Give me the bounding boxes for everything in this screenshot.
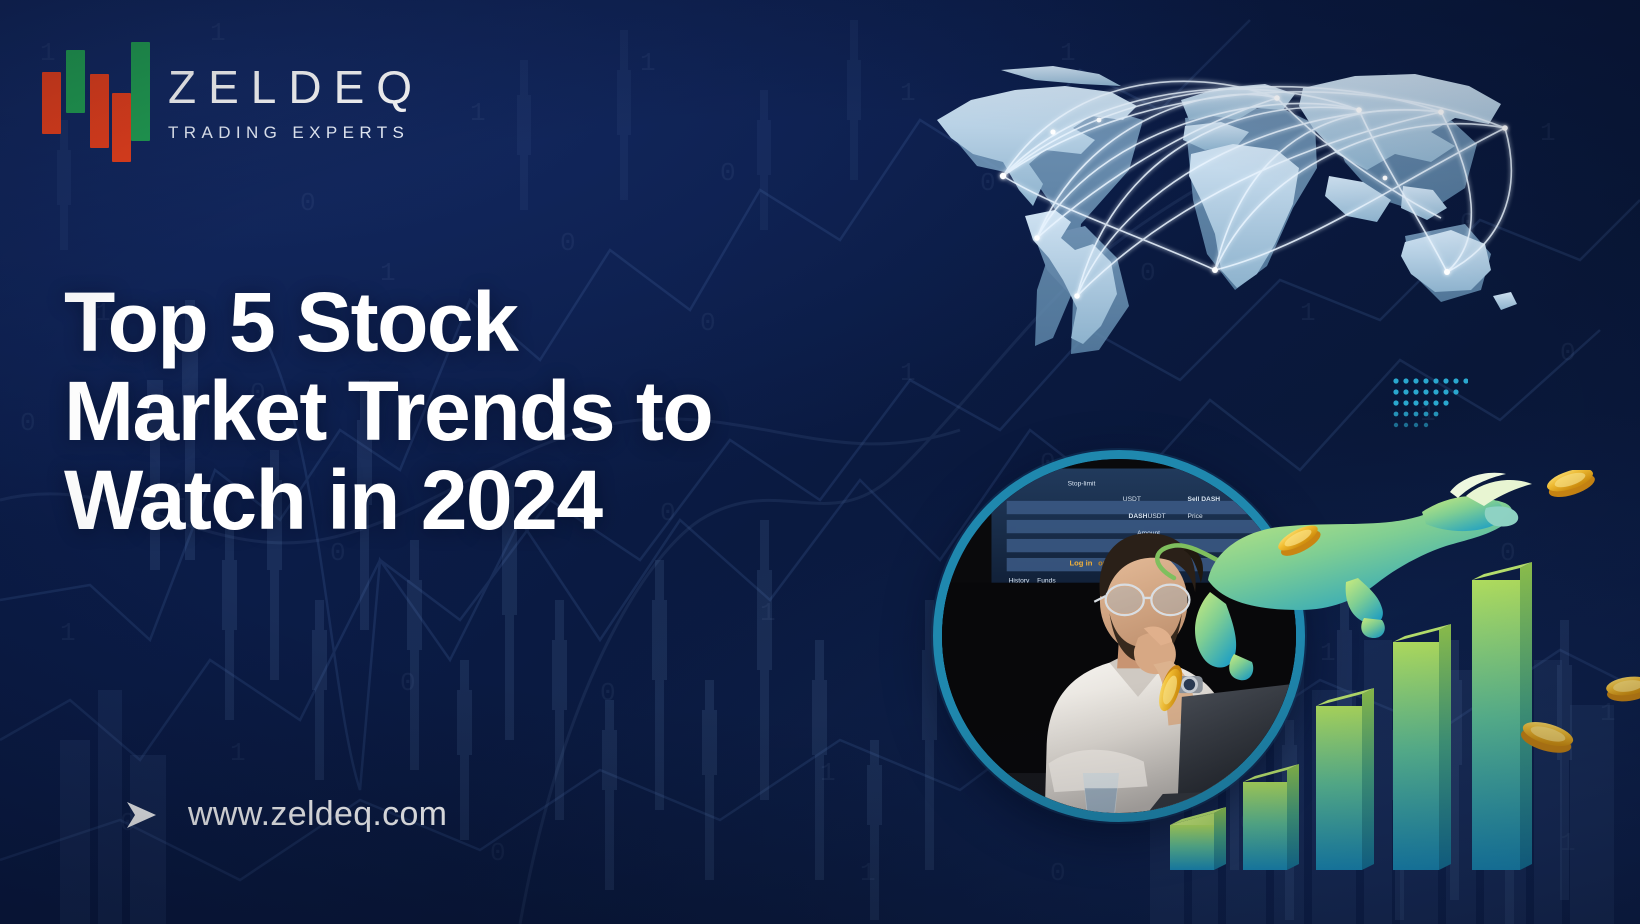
page-title: Top 5 Stock Market Trends to Watch in 20… — [64, 278, 894, 545]
brand-tagline: TRADING EXPERTS — [168, 124, 424, 141]
world-map-network — [885, 58, 1535, 358]
svg-text:0: 0 — [600, 678, 616, 708]
play-arrow-icon — [124, 798, 158, 832]
bar-2 — [1243, 764, 1299, 870]
headline-line-1: Top 5 Stock — [64, 278, 894, 367]
growth-bar-chart — [1150, 470, 1640, 870]
logo-bar-4 — [112, 93, 131, 162]
logo-bar-1 — [42, 72, 61, 134]
svg-text:0: 0 — [20, 408, 36, 438]
bar-3 — [1316, 688, 1374, 870]
candlestick-logo-mark — [42, 42, 142, 162]
svg-text:1: 1 — [820, 758, 836, 788]
svg-text:DASH: DASH — [1129, 513, 1148, 520]
headline-line-2: Market Trends to — [64, 367, 894, 456]
logo-bar-5 — [131, 42, 150, 141]
svg-text:0: 0 — [490, 838, 506, 868]
url-text: www.zeldeq.com — [188, 795, 447, 834]
gold-coin-wrist — [1140, 660, 1200, 720]
svg-text:1: 1 — [860, 858, 876, 888]
brand-logo[interactable]: ZELDEQ TRADING EXPERTS — [42, 42, 424, 162]
svg-text:0: 0 — [1050, 858, 1066, 888]
bar-5 — [1472, 562, 1532, 870]
bar-4 — [1393, 624, 1451, 870]
svg-text:Stop-limit: Stop-limit — [1068, 481, 1096, 488]
logo-bar-2 — [66, 50, 85, 113]
svg-text:1: 1 — [760, 598, 776, 628]
marketing-banner: .bd{fill:#9db7e0;font-family:"Liberation… — [0, 0, 1640, 924]
svg-text:1: 1 — [1540, 118, 1556, 148]
bar-1 — [1170, 807, 1226, 870]
svg-text:1: 1 — [230, 738, 246, 768]
svg-text:0: 0 — [1560, 338, 1576, 368]
svg-text:1: 1 — [60, 618, 76, 648]
svg-text:1: 1 — [640, 48, 656, 78]
svg-text:Log in: Log in — [1070, 559, 1093, 568]
website-url[interactable]: www.zeldeq.com — [124, 795, 447, 834]
svg-text:0: 0 — [720, 158, 736, 188]
svg-text:0: 0 — [560, 228, 576, 258]
logo-bar-3 — [90, 74, 109, 148]
svg-text:1: 1 — [470, 98, 486, 128]
svg-text:0: 0 — [300, 188, 316, 218]
svg-text:USDT: USDT — [1123, 496, 1141, 503]
svg-text:1: 1 — [900, 358, 916, 388]
brand-name: ZELDEQ — [168, 64, 424, 110]
svg-text:0: 0 — [400, 668, 416, 698]
logo-wordmark: ZELDEQ TRADING EXPERTS — [168, 64, 424, 141]
headline-line-3: Watch in 2024 — [64, 456, 894, 545]
dot-grid-decoration — [1392, 376, 1468, 434]
